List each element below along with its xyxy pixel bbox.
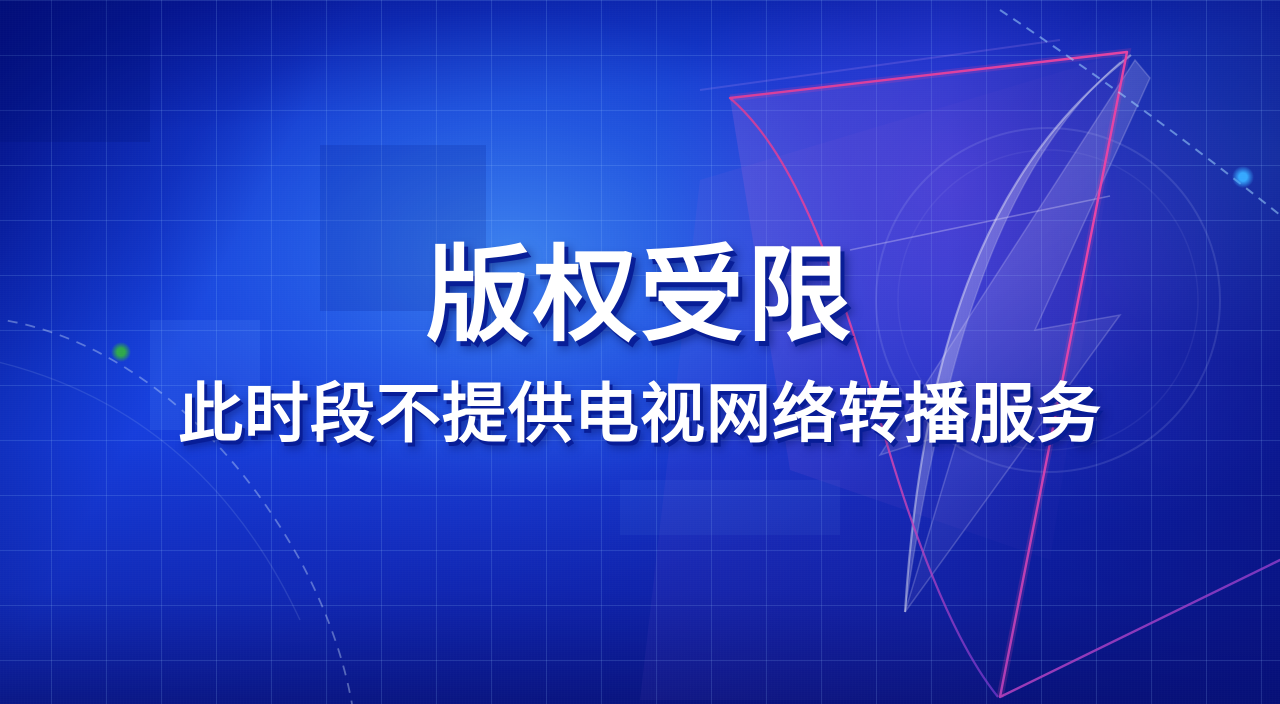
- notice-headline: 版权受限: [0, 244, 1280, 348]
- light-streak: [850, 196, 1110, 250]
- notice-text-block: 版权受限 此时段不提供电视网络转播服务: [0, 244, 1280, 446]
- cyan-dot: [1239, 173, 1248, 182]
- grid-cell-highlight: [620, 480, 840, 535]
- broadcast-notice-screen: 版权受限 此时段不提供电视网络转播服务: [0, 0, 1280, 704]
- light-streak-upper: [700, 40, 1060, 90]
- grid-cell-highlight: [0, 0, 150, 142]
- dashed-arc-upper-right: [1000, 10, 1280, 215]
- notice-subheadline: 此时段不提供电视网络转播服务: [0, 381, 1280, 446]
- cyan-dot-glow: [1232, 166, 1254, 188]
